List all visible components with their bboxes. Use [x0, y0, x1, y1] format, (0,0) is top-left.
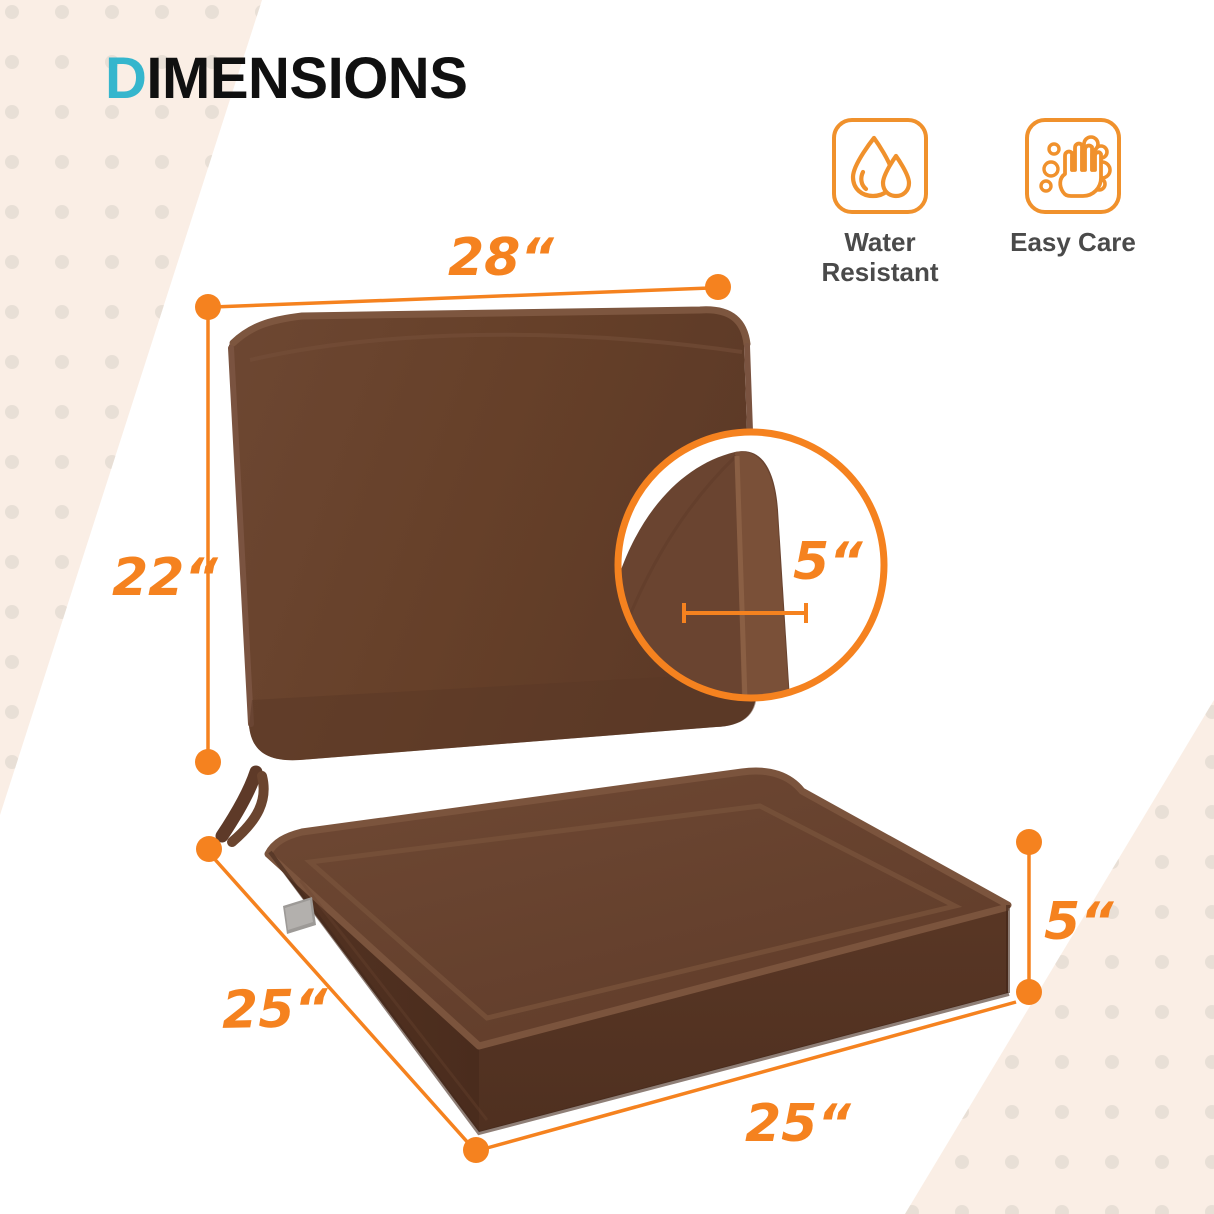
- dimension-label-thickness-right: 5“: [1044, 896, 1114, 948]
- water-drop-icon: [836, 122, 924, 210]
- feature-label: Water Resistant: [785, 228, 975, 288]
- dimension-label-thickness-zoom: 5“: [793, 536, 863, 588]
- dimension-line-width-top: [213, 288, 710, 307]
- title-rest: IMENSIONS: [146, 46, 467, 111]
- dimension-label-height-left: 22“: [112, 552, 218, 604]
- feature-water-resistant: Water Resistant: [785, 118, 975, 288]
- infographic-canvas: DIMENSIONS Water Resistant: [0, 0, 1214, 1214]
- dimension-label-depth-left: 25“: [222, 983, 329, 1037]
- soapy-hand-icon: [1029, 122, 1117, 210]
- dimension-dot-top-right: [705, 274, 731, 300]
- page-title: DIMENSIONS: [105, 50, 467, 108]
- dimension-dot-right-bottom: [1016, 979, 1042, 1005]
- feature-label: Easy Care: [978, 228, 1168, 258]
- dimension-dot-right-top: [1016, 829, 1042, 855]
- title-accent-letter: D: [105, 46, 146, 111]
- easy-care-badge: [1025, 118, 1121, 214]
- feature-easy-care: Easy Care: [978, 118, 1168, 258]
- dimension-dot-mid-left: [195, 749, 221, 775]
- dimension-dot-bottom-vertex: [463, 1137, 489, 1163]
- water-resistant-badge: [832, 118, 928, 214]
- dimension-label-width-bottom: 25“: [745, 1098, 851, 1150]
- dimension-label-width-top: 28“: [448, 232, 554, 284]
- dimension-dot-bottom-left: [196, 836, 222, 862]
- dimension-dot-top-left: [195, 294, 221, 320]
